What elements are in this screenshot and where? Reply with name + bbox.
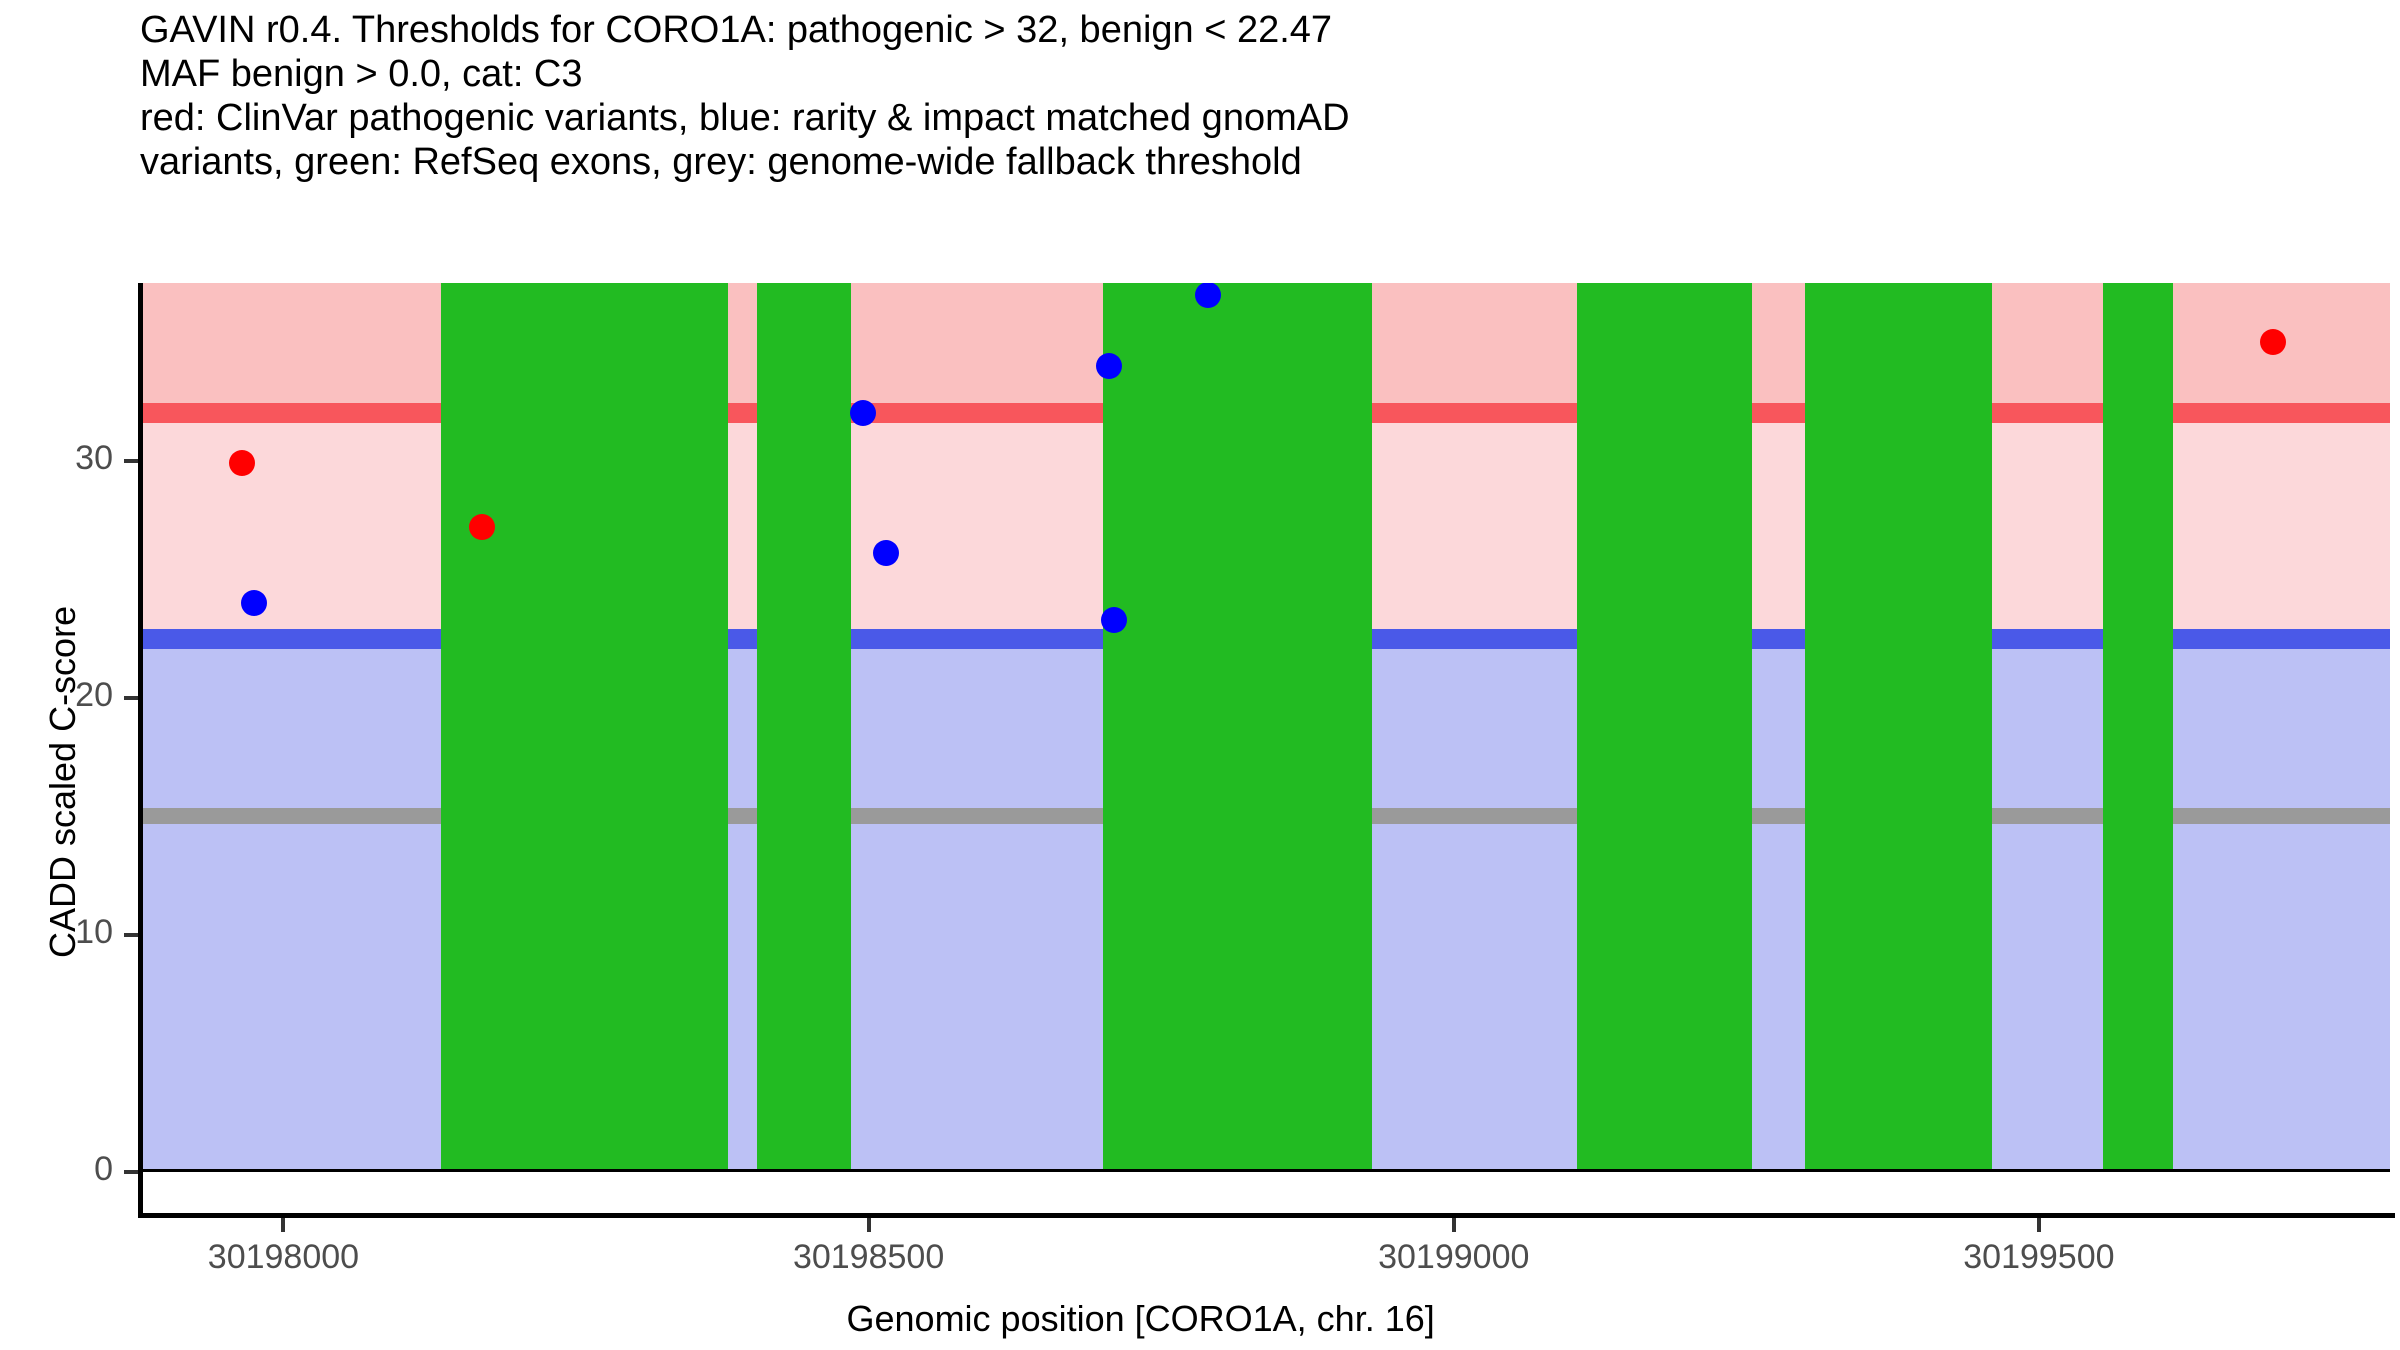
x-tick-mark — [281, 1218, 285, 1232]
y-tick-label: 0 — [3, 1150, 113, 1189]
x-tick-mark — [867, 1218, 871, 1232]
x-tick-label: 30199500 — [1929, 1238, 2149, 1277]
gnomad-variant-point[interactable] — [850, 400, 876, 426]
gnomad-variant-point[interactable] — [1195, 283, 1221, 308]
y-tick-mark — [124, 459, 138, 463]
exon-bar — [1805, 283, 1992, 1172]
y-tick-label: 10 — [3, 913, 113, 952]
y-tick-mark — [124, 933, 138, 937]
gnomad-variant-point[interactable] — [1096, 353, 1122, 379]
exon-bar — [1577, 283, 1753, 1172]
chart-title-block: GAVIN r0.4. Thresholds for CORO1A: patho… — [140, 8, 2340, 184]
title-line-3: red: ClinVar pathogenic variants, blue: … — [140, 96, 2340, 140]
x-axis-line — [138, 1213, 2395, 1218]
y-tick-mark — [124, 1170, 138, 1174]
exon-bar — [553, 283, 729, 1172]
chart-root: GAVIN r0.4. Thresholds for CORO1A: patho… — [0, 0, 2400, 1350]
x-tick-mark — [2037, 1218, 2041, 1232]
title-line-4: variants, green: RefSeq exons, grey: gen… — [140, 140, 2340, 184]
y-axis-label: CADD scaled C-score — [42, 605, 84, 957]
x-tick-label: 30199000 — [1344, 1238, 1564, 1277]
title-line-1: GAVIN r0.4. Thresholds for CORO1A: patho… — [140, 8, 2340, 52]
exon-bar — [757, 283, 851, 1172]
exon-bar — [1103, 283, 1372, 1172]
x-tick-mark — [1452, 1218, 1456, 1232]
title-line-2: MAF benign > 0.0, cat: C3 — [140, 52, 2340, 96]
y-tick-mark — [124, 696, 138, 700]
x-axis-label: Genomic position [CORO1A, chr. 16] — [847, 1298, 1435, 1340]
exon-bar — [2103, 283, 2173, 1172]
gnomad-variant-point[interactable] — [1101, 607, 1127, 633]
y-tick-label: 30 — [3, 439, 113, 478]
x-tick-label: 30198000 — [173, 1238, 393, 1277]
x-tick-label: 30198500 — [759, 1238, 979, 1277]
zero-baseline — [143, 1169, 2390, 1172]
plot-panel[interactable] — [143, 283, 2390, 1172]
y-tick-label: 20 — [3, 676, 113, 715]
